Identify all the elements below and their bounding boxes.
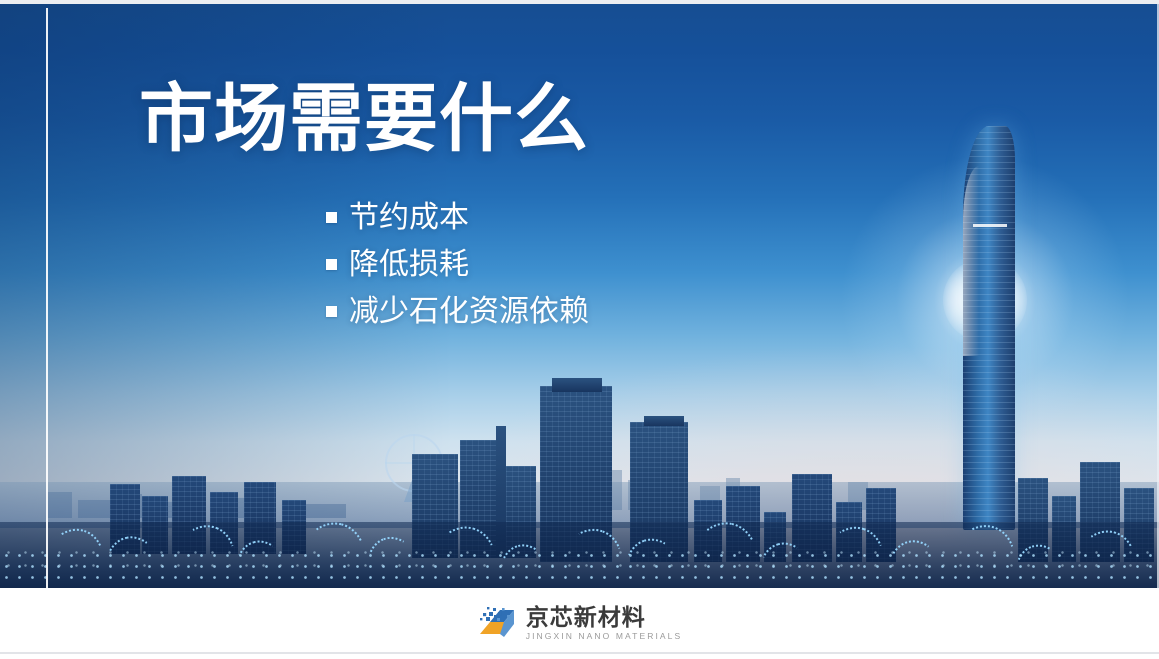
logo-wordmark: 京芯新材料 JINGXIN NANO MATERIALS [526,605,683,641]
company-name-en: JINGXIN NANO MATERIALS [526,631,683,641]
top-edge-strip [0,0,1159,4]
footer-logo-block: 京芯新材料 JINGXIN NANO MATERIALS [0,588,1159,659]
bottom-edge-border [0,652,1159,654]
left-accent-line [46,8,48,588]
square-bullet-icon [326,259,337,270]
list-item: 节约成本 [326,194,589,241]
list-item-label: 降低损耗 [349,250,469,280]
pixel-arrow-logo-icon [477,604,517,644]
bullet-list: 节约成本 降低损耗 减少石化资源依赖 [326,194,589,335]
slide-title: 市场需要什么 [139,82,589,156]
slide-background-image: 市场需要什么 节约成本 降低损耗 减少石化资源依赖 [0,4,1159,588]
slide-footer: 京芯新材料 JINGXIN NANO MATERIALS [0,588,1159,659]
list-item: 减少石化资源依赖 [326,288,589,335]
presentation-slide: 市场需要什么 节约成本 降低损耗 减少石化资源依赖 [0,0,1159,659]
list-item-label: 节约成本 [349,203,469,233]
list-item-label: 减少石化资源依赖 [349,297,589,327]
company-name-cn: 京芯新材料 [526,605,683,629]
square-bullet-icon [326,306,337,317]
list-item: 降低损耗 [326,241,589,288]
network-dot-overlay [0,478,1159,588]
square-bullet-icon [326,212,337,223]
building-crown [644,416,684,426]
curved-skyscraper [963,126,1015,530]
building-crown [552,378,602,392]
